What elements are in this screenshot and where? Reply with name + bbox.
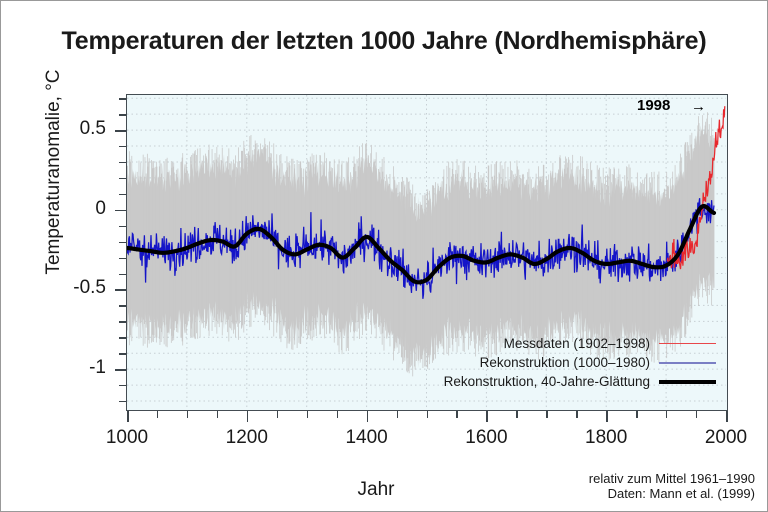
x-tick-label: 1400 <box>327 427 407 449</box>
y-tick-minor <box>119 98 126 99</box>
x-tick-label: 2000 <box>686 427 766 449</box>
legend-label: Rekonstruktion, 40-Jahre-Glättung <box>444 374 659 389</box>
legend-item: Messdaten (1902–1998) <box>371 334 716 353</box>
x-tick-major <box>606 411 608 422</box>
page-title: Temperaturen der letzten 1000 Jahre (Nor… <box>1 27 767 56</box>
y-tick-minor <box>119 305 126 306</box>
legend-item: Rekonstruktion, 40-Jahre-Glättung <box>371 372 716 391</box>
peak-year-annotation: 1998 <box>637 97 670 114</box>
x-tick-major <box>127 411 129 422</box>
x-tick-minor <box>576 411 577 418</box>
x-tick-minor <box>636 411 637 418</box>
x-tick-major <box>367 411 369 422</box>
y-tick-minor <box>119 353 126 354</box>
legend-label: Messdaten (1902–1998) <box>504 336 659 351</box>
x-tick-minor <box>696 411 697 418</box>
x-tick-minor <box>337 411 338 418</box>
x-axis-label: Jahr <box>246 479 506 501</box>
x-tick-minor <box>427 411 428 418</box>
x-tick-label: 1800 <box>566 427 646 449</box>
x-tick-label: 1200 <box>207 427 287 449</box>
y-tick-minor <box>119 337 126 338</box>
y-tick-minor <box>119 274 126 275</box>
y-tick-minor <box>119 162 126 163</box>
x-tick-major <box>486 411 488 422</box>
y-tick-minor <box>119 385 126 386</box>
x-tick-label: 1000 <box>87 427 167 449</box>
y-tick-major <box>115 210 126 212</box>
y-tick-minor <box>119 114 126 115</box>
y-tick-minor <box>119 146 126 147</box>
y-tick-minor <box>119 226 126 227</box>
x-tick-major <box>726 411 728 422</box>
y-tick-major <box>115 369 126 371</box>
x-tick-minor <box>666 411 667 418</box>
y-tick-label: 0.5 <box>46 118 106 140</box>
y-tick-minor <box>119 194 126 195</box>
legend-line <box>659 362 716 364</box>
legend-label: Rekonstruktion (1000–1980) <box>480 355 659 370</box>
x-tick-minor <box>546 411 547 418</box>
x-tick-minor <box>516 411 517 418</box>
x-tick-minor <box>456 411 457 418</box>
x-tick-minor <box>157 411 158 418</box>
y-axis-label: Temperaturanomalie, °C <box>43 27 65 317</box>
y-tick-minor <box>119 401 126 402</box>
y-tick-minor <box>119 242 126 243</box>
x-tick-major <box>247 411 249 422</box>
legend-swatch <box>659 343 716 344</box>
legend-swatch <box>659 380 716 384</box>
y-tick-label: -0.5 <box>46 277 106 299</box>
y-tick-label: -1 <box>46 357 106 379</box>
footnote-line-1: relativ zum Mittel 1961–1990 <box>589 471 755 486</box>
y-tick-minor <box>119 321 126 322</box>
peak-arrow-icon: → <box>691 98 706 115</box>
x-tick-minor <box>307 411 308 418</box>
legend-line <box>659 343 716 344</box>
y-tick-major <box>115 289 126 291</box>
x-tick-minor <box>187 411 188 418</box>
y-tick-minor <box>119 178 126 179</box>
footnote: relativ zum Mittel 1961–1990 Daten: Mann… <box>589 471 755 501</box>
legend-item: Rekonstruktion (1000–1980) <box>371 353 716 372</box>
x-tick-label: 1600 <box>446 427 526 449</box>
legend-swatch <box>659 362 716 364</box>
x-tick-minor <box>397 411 398 418</box>
legend-line <box>659 380 716 384</box>
x-tick-minor <box>277 411 278 418</box>
footnote-line-2: Daten: Mann et al. (1999) <box>589 486 755 501</box>
x-tick-minor <box>217 411 218 418</box>
y-tick-major <box>115 130 126 132</box>
y-tick-minor <box>119 258 126 259</box>
y-tick-label: 0 <box>46 198 106 220</box>
chart-legend: Messdaten (1902–1998)Rekonstruktion (100… <box>371 334 716 391</box>
